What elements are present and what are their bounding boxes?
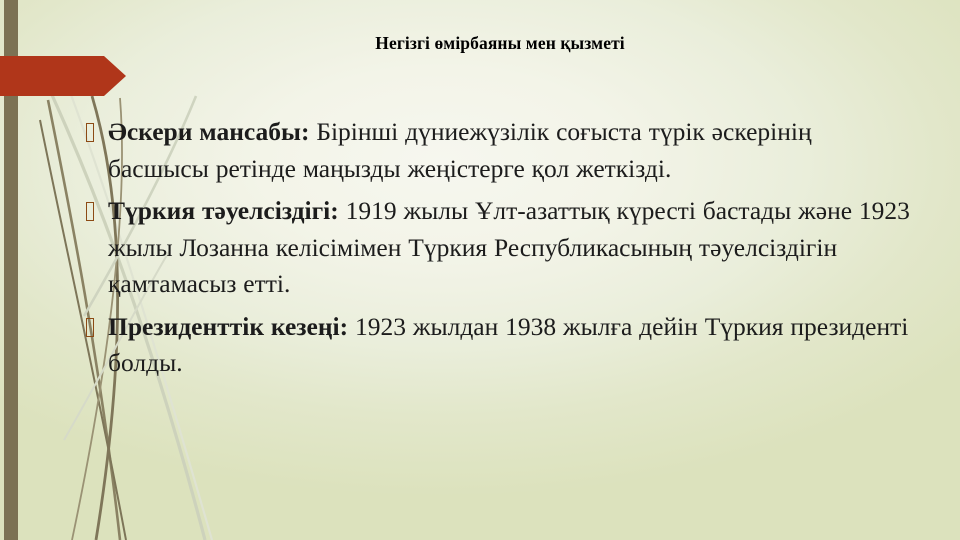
list-item-lead: Әскери мансабы: [108,117,309,146]
list-item: Түркия тәуелсіздігі: 1919 жылы Ұлт-азатт… [86,193,916,303]
tofu-box-bullet-icon [86,318,108,339]
red-arrow-banner [0,56,126,96]
tofu-box-bullet-icon [86,123,108,144]
list-item-lead: Президенттік кезеңі: [108,312,348,341]
list-item: Президенттік кезеңі: 1923 жылдан 1938 жы… [86,309,916,382]
list-item-text: Президенттік кезеңі: 1923 жылдан 1938 жы… [108,309,916,382]
list-item-text: Әскери мансабы: Бірінші дүниежүзілік соғ… [108,114,916,187]
presentation-slide: Негізгі өмірбаяны мен қызметі Әскери ман… [0,0,960,540]
list-item-lead: Түркия тәуелсіздігі: [108,196,339,225]
slide-body-content: Әскери мансабы: Бірінші дүниежүзілік соғ… [86,114,916,388]
tofu-box-bullet-icon [86,202,108,223]
slide-title: Негізгі өмірбаяны мен қызметі [60,33,940,54]
list-item-text: Түркия тәуелсіздігі: 1919 жылы Ұлт-азатт… [108,193,916,303]
list-item: Әскери мансабы: Бірінші дүниежүзілік соғ… [86,114,916,187]
